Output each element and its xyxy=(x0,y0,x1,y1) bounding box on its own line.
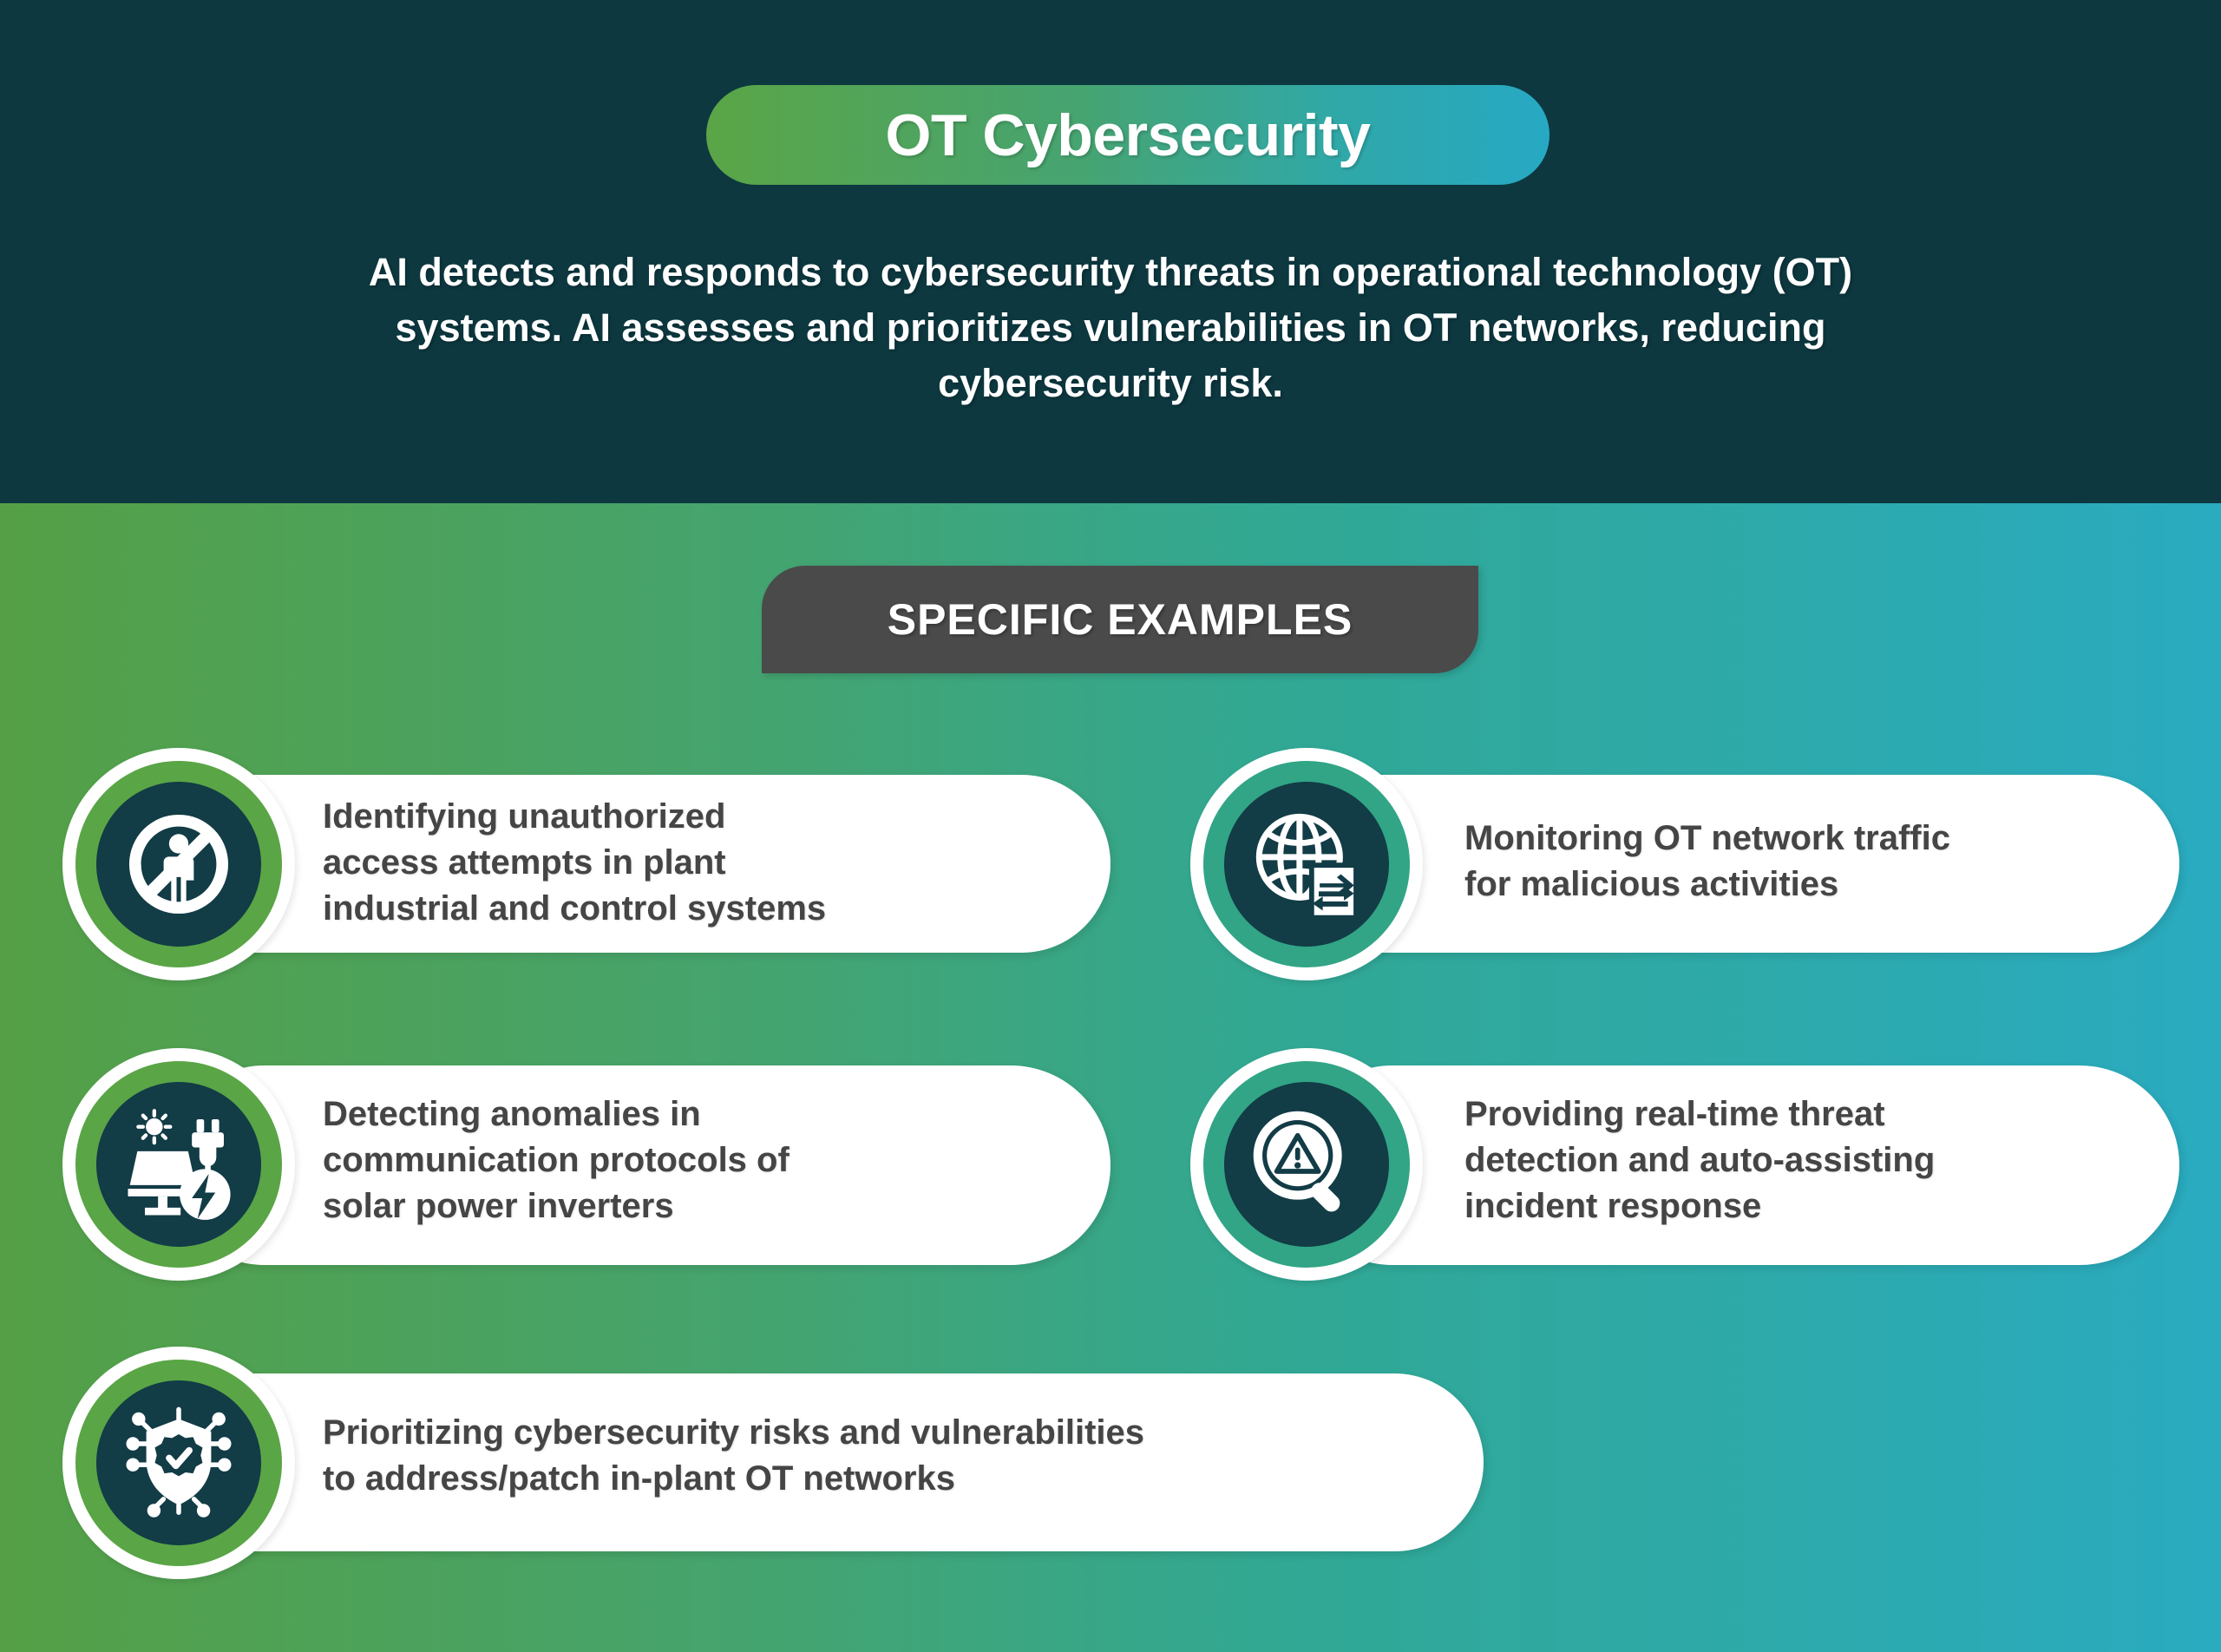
icon-badge xyxy=(62,1048,295,1281)
example-text: Providing real-time threat detection and… xyxy=(1464,1091,2167,1230)
no-person-prohibited-icon xyxy=(125,810,233,918)
specific-examples-label: SPECIFIC EXAMPLES xyxy=(888,594,1353,645)
icon-ring xyxy=(75,761,282,967)
globe-data-transfer-icon xyxy=(1251,809,1362,920)
title-pill: OT Cybersecurity xyxy=(706,85,1549,185)
icon-ring xyxy=(75,1360,282,1566)
example-text: Detecting anomalies in communication pro… xyxy=(323,1091,1052,1230)
icon-disc xyxy=(1224,782,1389,947)
icon-ring xyxy=(75,1061,282,1268)
magnifier-warning-icon xyxy=(1252,1110,1361,1219)
page-title: OT Cybersecurity xyxy=(886,106,1371,165)
example-text: Identifying unauthorized access attempts… xyxy=(323,794,1052,933)
icon-ring xyxy=(1203,1061,1410,1268)
header-band: OT Cybersecurity AI detects and responds… xyxy=(0,0,2221,503)
icon-disc xyxy=(1224,1082,1389,1247)
icon-badge xyxy=(62,748,295,980)
icon-disc xyxy=(96,1082,261,1247)
icon-badge xyxy=(1190,1048,1423,1281)
header-description: AI detects and responds to cybersecurity… xyxy=(330,245,1891,411)
icon-badge xyxy=(1190,748,1423,980)
icon-disc xyxy=(96,782,261,947)
infographic-canvas: OT Cybersecurity AI detects and responds… xyxy=(0,0,2221,1652)
shield-circuit-check-icon xyxy=(121,1406,236,1520)
example-text: Prioritizing cybersecurity risks and vul… xyxy=(323,1410,1442,1502)
icon-ring xyxy=(1203,761,1410,967)
icon-disc xyxy=(96,1380,261,1545)
solar-panel-power-icon xyxy=(122,1108,235,1221)
specific-examples-banner: SPECIFIC EXAMPLES xyxy=(762,566,1478,673)
icon-badge xyxy=(62,1347,295,1579)
example-text: Monitoring OT network traffic for malici… xyxy=(1464,816,2167,908)
